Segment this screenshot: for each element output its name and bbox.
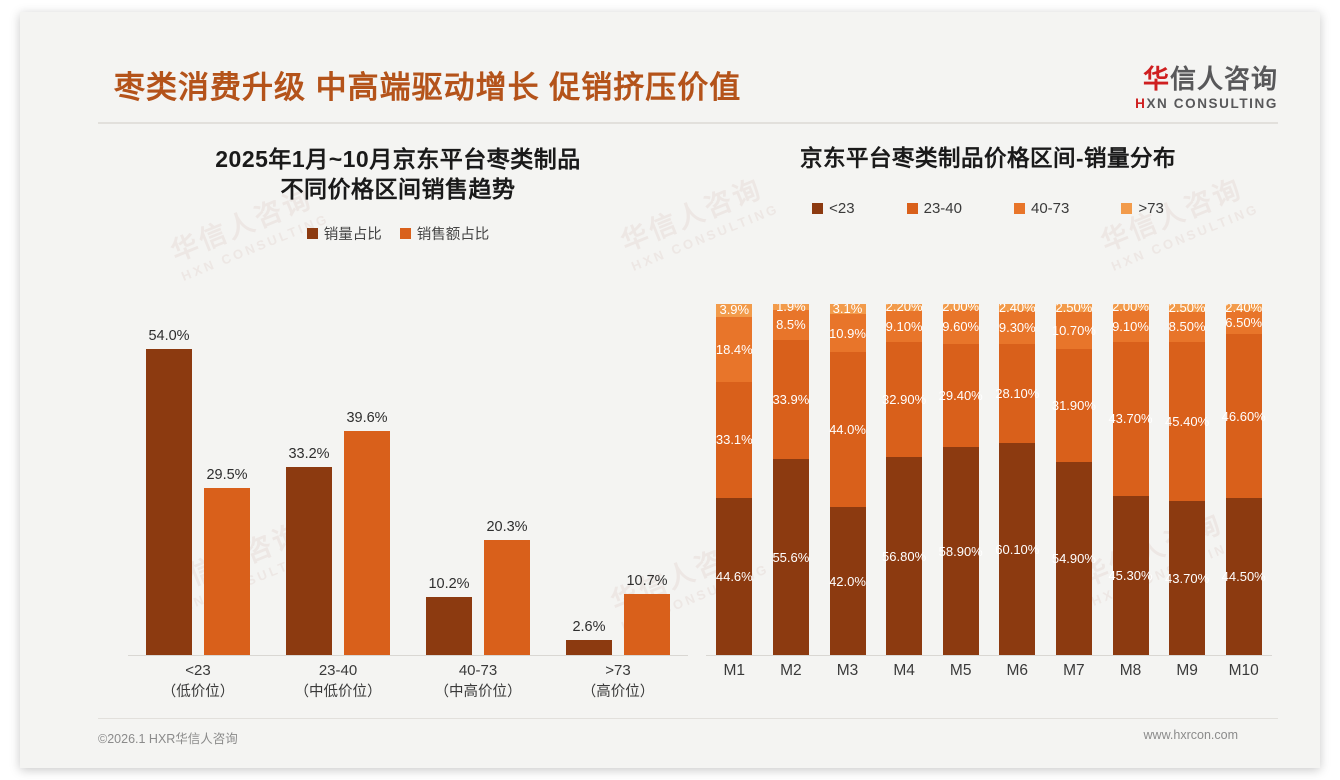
x-axis-tick-label: M3 — [820, 662, 876, 680]
x-axis-tick-label: >73 — [605, 662, 630, 679]
bar-rect — [566, 640, 612, 655]
stacked-bar-segment: 54.90% — [1056, 462, 1092, 655]
bar[interactable]: 10.2% — [426, 597, 472, 655]
stacked-bar-value-label: 6.50% — [1225, 315, 1262, 330]
legend-swatch-icon — [400, 228, 411, 239]
x-axis-tick-sublabel: （低价位） — [128, 682, 268, 703]
x-axis-tick-label: M5 — [933, 662, 989, 680]
company-logo: 华信人咨询 HXN CONSULTING — [1135, 66, 1278, 111]
stacked-bar-value-label: 44.0% — [829, 422, 866, 437]
logo-rest-chars: 信人咨询 — [1170, 64, 1278, 94]
stacked-bar-value-label: 43.70% — [1165, 571, 1209, 586]
stacked-bar-segment: 43.70% — [1169, 501, 1205, 655]
stacked-bar-value-label: 9.60% — [942, 319, 979, 334]
stacked-bar-value-label: 2.00% — [1112, 304, 1149, 314]
bar[interactable]: 2.6% — [566, 640, 612, 655]
stacked-bar-value-label: 33.1% — [716, 432, 753, 447]
x-axis-tick-label: M8 — [1103, 662, 1159, 680]
stacked-bar-segment: 3.1% — [830, 304, 866, 314]
stacked-bar-segment: 2.50% — [1169, 304, 1205, 312]
bar-rect — [286, 467, 332, 655]
stacked-bar-value-label: 45.30% — [1108, 568, 1152, 583]
footer-copyright: ©2026.1 HXR华信人咨询 — [98, 728, 238, 747]
legend-swatch-icon — [1014, 203, 1025, 214]
stacked-bar-value-label: 10.9% — [829, 326, 866, 341]
stacked-bar-value-label: 2.00% — [942, 304, 979, 314]
x-axis-tick: <23（低价位） — [128, 660, 268, 703]
logo-english: HXN CONSULTING — [1135, 97, 1278, 111]
stacked-bar-segment: 28.10% — [999, 344, 1035, 443]
stacked-bar-value-label: 8.50% — [1169, 319, 1206, 334]
stacked-bar-segment: 9.10% — [886, 311, 922, 343]
x-axis-tick: >73（高价位） — [548, 660, 688, 703]
x-axis-tick-label: <23 — [185, 662, 210, 679]
stacked-bar-segment: 2.40% — [999, 304, 1035, 311]
legend-label: 销售额占比 — [417, 223, 490, 244]
stacked-bar[interactable]: 54.90%31.90%10.70%2.50% — [1056, 304, 1092, 655]
stacked-bar-segment: 44.50% — [1226, 498, 1262, 655]
bar-group: 33.2%39.6% — [268, 315, 408, 655]
stacked-bar-segment: 2.50% — [1056, 304, 1092, 312]
left-chart-plot-area: 54.0%29.5%33.2%39.6%10.2%20.3%2.6%10.7% … — [128, 316, 688, 706]
x-axis-tick-sublabel: （中低价位） — [268, 682, 408, 703]
bar[interactable]: 54.0% — [146, 349, 192, 655]
stacked-bar-value-label: 18.4% — [716, 342, 753, 357]
stacked-bar-segment: 44.0% — [830, 352, 866, 507]
header-divider — [98, 122, 1278, 124]
left-chart-legend: 销量占比销售额占比 — [98, 223, 698, 244]
x-axis-tick-label: 23-40 — [319, 662, 357, 679]
stacked-bar-segment: 9.30% — [999, 311, 1035, 344]
legend-swatch-icon — [907, 203, 918, 214]
legend-swatch-icon — [307, 228, 318, 239]
stacked-bar-segment: 9.10% — [1113, 310, 1149, 342]
stacked-bar-value-label: 2.40% — [1225, 304, 1262, 315]
stacked-bar-value-label: 1.9% — [776, 304, 806, 314]
stacked-bar-segment: 32.90% — [886, 342, 922, 457]
x-axis-tick: 40-73（中高价位） — [408, 660, 548, 703]
bar-rect — [344, 431, 390, 655]
stacked-bar-value-label: 44.50% — [1222, 569, 1266, 584]
bar-group: 10.2%20.3% — [408, 315, 548, 655]
stacked-bar-segment: 10.9% — [830, 314, 866, 352]
stacked-bar-value-label: 45.40% — [1165, 414, 1209, 429]
grouped-bars: 54.0%29.5%33.2%39.6%10.2%20.3%2.6%10.7% — [128, 316, 688, 656]
stacked-bar[interactable]: 58.90%29.40%9.60%2.00% — [943, 304, 979, 655]
bar-group: 2.6%10.7% — [548, 315, 688, 655]
bar-value-label: 33.2% — [288, 446, 329, 462]
slide-page: 华信人咨询 HXN CONSULTING 华信人咨询 HXN CONSULTIN… — [20, 12, 1320, 768]
stacked-bar-value-label: 29.40% — [939, 388, 983, 403]
stacked-bar-value-label: 42.0% — [829, 574, 866, 589]
logo-en-rest: XN CONSULTING — [1146, 96, 1278, 111]
legend-swatch-icon — [812, 203, 823, 214]
bar[interactable]: 39.6% — [344, 431, 390, 655]
stacked-bar[interactable]: 44.50%46.60%6.50%2.40% — [1226, 304, 1262, 655]
right-chart-title: 京东平台枣类制品价格区间-销量分布 — [698, 144, 1278, 174]
legend-label: 销量占比 — [324, 223, 382, 244]
stacked-bar-segment: 58.90% — [943, 447, 979, 655]
bar-rect — [624, 594, 670, 655]
stacked-bar-segment: 33.1% — [716, 382, 752, 499]
stacked-bar-value-label: 55.6% — [772, 550, 809, 565]
logo-en-accent: H — [1135, 96, 1146, 111]
legend-item[interactable]: <23 — [812, 200, 854, 217]
left-chart-title-line2: 不同价格区间销售趋势 — [98, 174, 698, 204]
right-chart-legend: <2323-4040-73>73 — [698, 200, 1278, 217]
bar-value-label: 20.3% — [486, 519, 527, 535]
stacked-bar-segment: 31.90% — [1056, 349, 1092, 461]
stacked-bar-segment: 2.00% — [1113, 304, 1149, 310]
x-axis-tick-sublabel: （高价位） — [548, 682, 688, 703]
stacked-bar-value-label: 43.70% — [1108, 411, 1152, 426]
x-axis-tick-label: 40-73 — [459, 662, 497, 679]
stacked-bar[interactable]: 55.6%33.9%8.5%1.9% — [773, 304, 809, 655]
bar[interactable]: 33.2% — [286, 467, 332, 655]
legend-item[interactable]: 销售额占比 — [400, 223, 490, 244]
bar-group: 54.0%29.5% — [128, 315, 268, 655]
stacked-bar-value-label: 3.1% — [833, 304, 863, 316]
stacked-bar-value-label: 46.60% — [1222, 409, 1266, 424]
legend-item[interactable]: 23-40 — [907, 200, 962, 217]
stacked-bar-segment: 6.50% — [1226, 311, 1262, 334]
stacked-bar-segment: 29.40% — [943, 344, 979, 448]
stacked-bar[interactable]: 56.80%32.90%9.10%2.20% — [886, 304, 922, 655]
x-axis-tick-label: M4 — [876, 662, 932, 680]
stacked-bar-segment: 42.0% — [830, 507, 866, 655]
right-chart-plot-area: 44.6%33.1%18.4%3.9%55.6%33.9%8.5%1.9%42.… — [706, 304, 1272, 704]
stacked-bar-value-label: 9.10% — [886, 319, 923, 334]
stacked-bar-segment: 60.10% — [999, 443, 1035, 655]
x-axis-tick-label: M7 — [1046, 662, 1102, 680]
stacked-bar-value-label: 2.50% — [1055, 304, 1092, 315]
bar-rect — [146, 349, 192, 655]
stacked-bar[interactable]: 44.6%33.1%18.4%3.9% — [716, 304, 752, 655]
stacked-bar-segment: 33.9% — [773, 340, 809, 459]
stacked-bar-value-label: 60.10% — [995, 542, 1039, 557]
stacked-bar[interactable]: 43.70%45.40%8.50%2.50% — [1169, 304, 1205, 655]
bar-value-label: 10.7% — [626, 573, 667, 589]
x-axis-tick: 23-40（中低价位） — [268, 660, 408, 703]
x-axis-tick-label: M9 — [1159, 662, 1215, 680]
stacked-bar[interactable]: 45.30%43.70%9.10%2.00% — [1113, 304, 1149, 655]
stacked-bar-value-label: 32.90% — [882, 392, 926, 407]
slide-root: 华信人咨询 HXN CONSULTING 华信人咨询 HXN CONSULTIN… — [0, 0, 1340, 780]
chart-panel-left: 2025年1月~10月京东平台枣类制品 不同价格区间销售趋势 销量占比销售额占比… — [98, 144, 698, 704]
footer-divider — [98, 718, 1278, 719]
x-axis-tick-sublabel: （中高价位） — [408, 682, 548, 703]
legend-label: 23-40 — [924, 200, 962, 217]
stacked-bar-value-label: 58.90% — [939, 544, 983, 559]
stacked-bar-segment: 46.60% — [1226, 334, 1262, 498]
stacked-bar-value-label: 33.9% — [772, 392, 809, 407]
stacked-bar-value-label: 31.90% — [1052, 398, 1096, 413]
bar[interactable]: 10.7% — [624, 594, 670, 655]
x-axis-tick-label: M10 — [1216, 662, 1272, 680]
bar[interactable]: 20.3% — [484, 540, 530, 655]
stacked-bar-value-label: 56.80% — [882, 549, 926, 564]
stacked-bar-value-label: 2.40% — [999, 304, 1036, 315]
stacked-bar[interactable]: 60.10%28.10%9.30%2.40% — [999, 304, 1035, 655]
bar[interactable]: 29.5% — [204, 488, 250, 655]
stacked-bar-segment: 56.80% — [886, 457, 922, 655]
stacked-bar-segment: 2.40% — [1226, 304, 1262, 311]
stacked-bar-segment: 9.60% — [943, 310, 979, 344]
stacked-bar-value-label: 2.50% — [1169, 304, 1206, 315]
bar-value-label: 54.0% — [148, 328, 189, 344]
stacked-bar-segment: 10.70% — [1056, 312, 1092, 350]
legend-item[interactable]: 40-73 — [1014, 200, 1069, 217]
left-chart-title: 2025年1月~10月京东平台枣类制品 不同价格区间销售趋势 — [98, 144, 698, 205]
stacked-bar-value-label: 10.70% — [1052, 323, 1096, 338]
stacked-bar-segment: 2.20% — [886, 304, 922, 311]
stacked-bar[interactable]: 42.0%44.0%10.9%3.1% — [830, 304, 866, 655]
stacked-bar-segment: 45.30% — [1113, 496, 1149, 655]
legend-swatch-icon — [1121, 203, 1132, 214]
legend-item[interactable]: 销量占比 — [307, 223, 382, 244]
bar-rect — [204, 488, 250, 655]
x-axis-tick-label: M1 — [706, 662, 762, 680]
x-axis-tick-label: M2 — [763, 662, 819, 680]
stacked-bar-segment: 44.6% — [716, 498, 752, 655]
stacked-bar-segment: 18.4% — [716, 317, 752, 382]
legend-label: 40-73 — [1031, 200, 1069, 217]
stacked-bar-value-label: 9.10% — [1112, 319, 1149, 334]
stacked-bar-value-label: 9.30% — [999, 320, 1036, 335]
bar-value-label: 29.5% — [206, 467, 247, 483]
stacked-bar-value-label: 54.90% — [1052, 551, 1096, 566]
left-chart-x-axis: <23（低价位）23-40（中低价位）40-73（中高价位）>73（高价位） — [128, 660, 688, 706]
page-title: 枣类消费升级 中高端驱动增长 促销挤压价值 — [114, 62, 741, 107]
stacked-bar-segment: 1.9% — [773, 304, 809, 310]
legend-item[interactable]: >73 — [1121, 200, 1163, 217]
stacked-bar-segment: 45.40% — [1169, 342, 1205, 502]
legend-label: <23 — [829, 200, 854, 217]
legend-label: >73 — [1138, 200, 1163, 217]
bar-rect — [484, 540, 530, 655]
logo-accent-char: 华 — [1143, 64, 1170, 94]
chart-panel-right: 京东平台枣类制品价格区间-销量分布 <2323-4040-73>73 44.6%… — [698, 144, 1278, 704]
stacked-bar-segment: 43.70% — [1113, 342, 1149, 496]
slide-header: 枣类消费升级 中高端驱动增长 促销挤压价值 华信人咨询 HXN CONSULTI… — [98, 60, 1278, 122]
stacked-bar-value-label: 44.6% — [716, 569, 753, 584]
bar-value-label: 10.2% — [428, 576, 469, 592]
footer-website: www.hxrcon.com — [1144, 728, 1238, 742]
x-axis-tick-label: M6 — [989, 662, 1045, 680]
stacked-bar-value-label: 8.5% — [776, 317, 806, 332]
stacked-bar-segment: 55.6% — [773, 459, 809, 655]
logo-chinese: 华信人咨询 — [1135, 66, 1278, 92]
stacked-bar-segment: 8.5% — [773, 310, 809, 340]
right-chart-x-axis: M1M2M3M4M5M6M7M8M9M10 — [706, 662, 1272, 696]
stacked-bars: 44.6%33.1%18.4%3.9%55.6%33.9%8.5%1.9%42.… — [706, 304, 1272, 656]
stacked-bar-segment: 3.9% — [716, 304, 752, 317]
bar-value-label: 39.6% — [346, 410, 387, 426]
bar-rect — [426, 597, 472, 655]
bar-value-label: 2.6% — [572, 619, 605, 635]
stacked-bar-segment: 8.50% — [1169, 312, 1205, 342]
stacked-bar-value-label: 28.10% — [995, 386, 1039, 401]
left-chart-title-line1: 2025年1月~10月京东平台枣类制品 — [98, 144, 698, 174]
stacked-bar-value-label: 2.20% — [886, 304, 923, 314]
stacked-bar-value-label: 3.9% — [719, 304, 749, 317]
stacked-bar-segment: 2.00% — [943, 304, 979, 310]
